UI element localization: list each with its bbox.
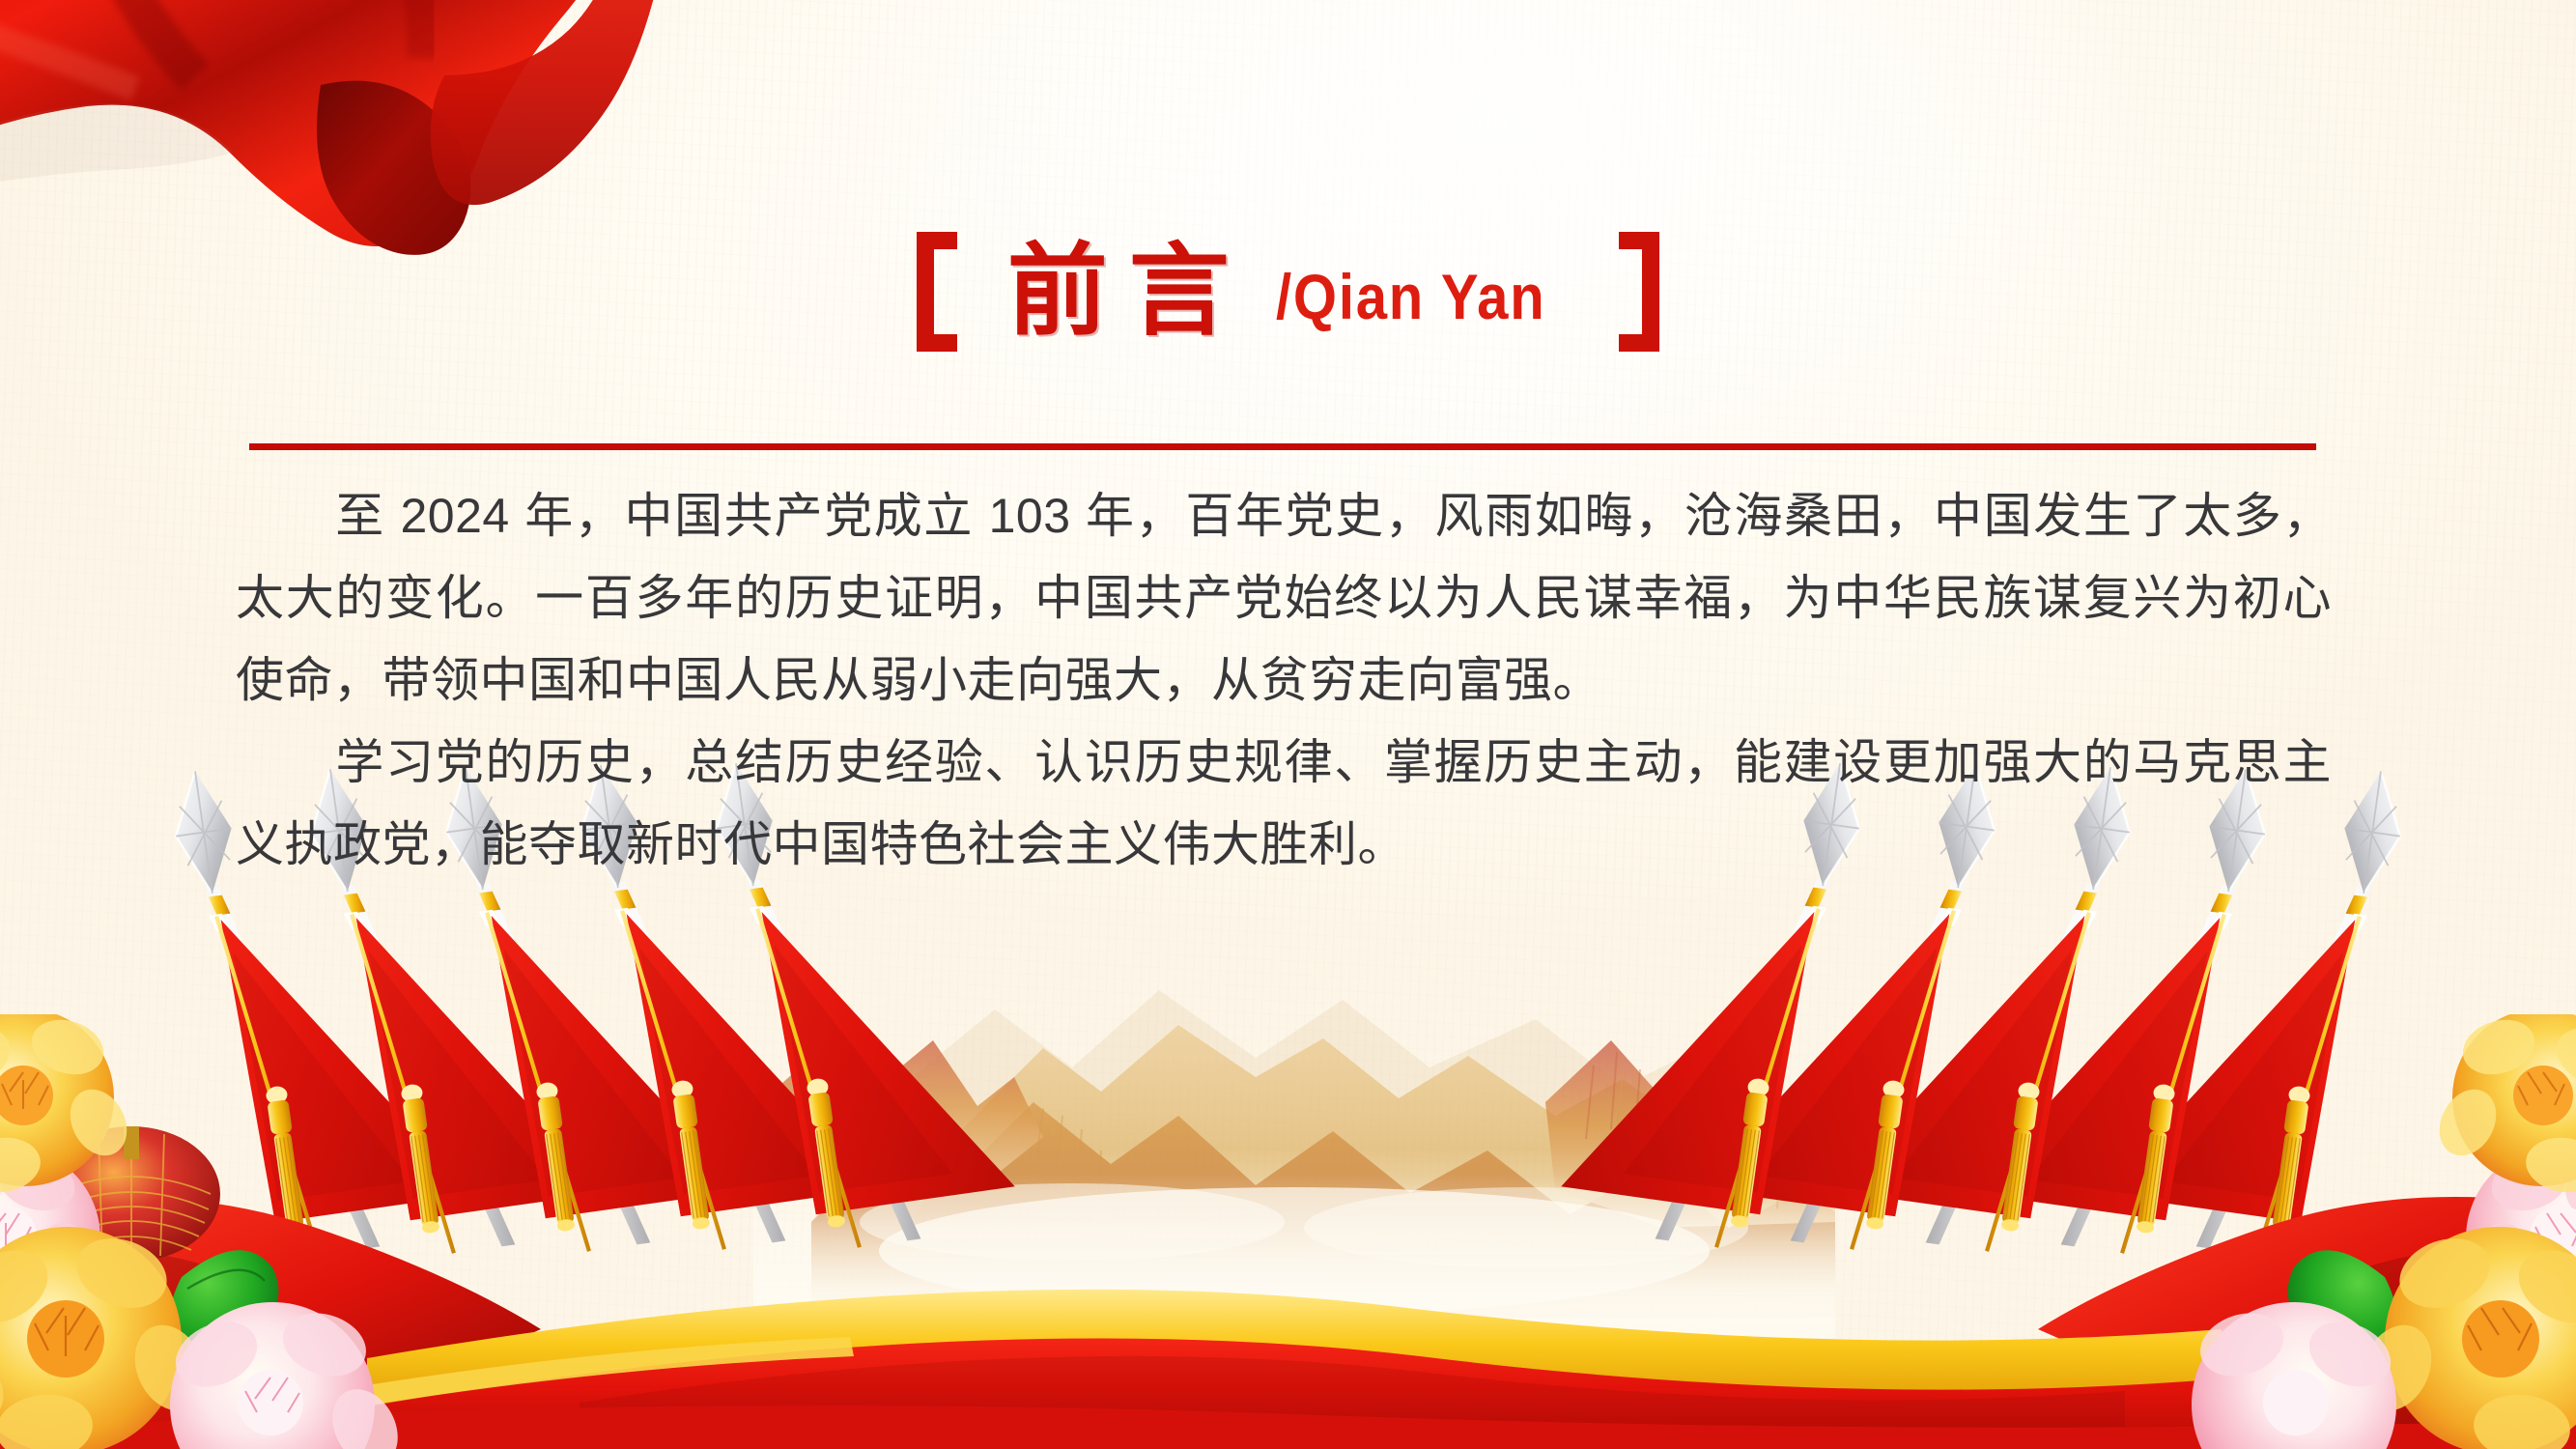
peony-cluster-left	[0, 1014, 473, 1449]
bracket-right-icon	[1615, 228, 1667, 355]
peony-cluster-right	[2093, 1014, 2576, 1449]
preface-body: 至 2024 年，中国共产党成立 103 年，百年党史，风雨如晦，沧海桑田，中国…	[236, 475, 2332, 886]
bracket-left-icon	[909, 228, 961, 355]
slide-root: 前言 /Qian Yan 至 2024 年，中国共产党成立 103 年，百年党史…	[0, 0, 2576, 1449]
paragraph-1: 至 2024 年，中国共产党成立 103 年，百年党史，风雨如晦，沧海桑田，中国…	[236, 475, 2332, 722]
title-divider	[249, 443, 2316, 450]
peony-yellow-3	[2428, 1014, 2576, 1197]
paragraph-2: 学习党的历史，总结历史经验、认识历史规律、掌握历史主动，能建设更加强大的马克思主…	[236, 722, 2332, 886]
title-chinese: 前言	[994, 241, 1251, 342]
title-pinyin: /Qian Yan	[1276, 265, 1545, 328]
page-title: 前言 /Qian Yan	[0, 228, 2576, 355]
